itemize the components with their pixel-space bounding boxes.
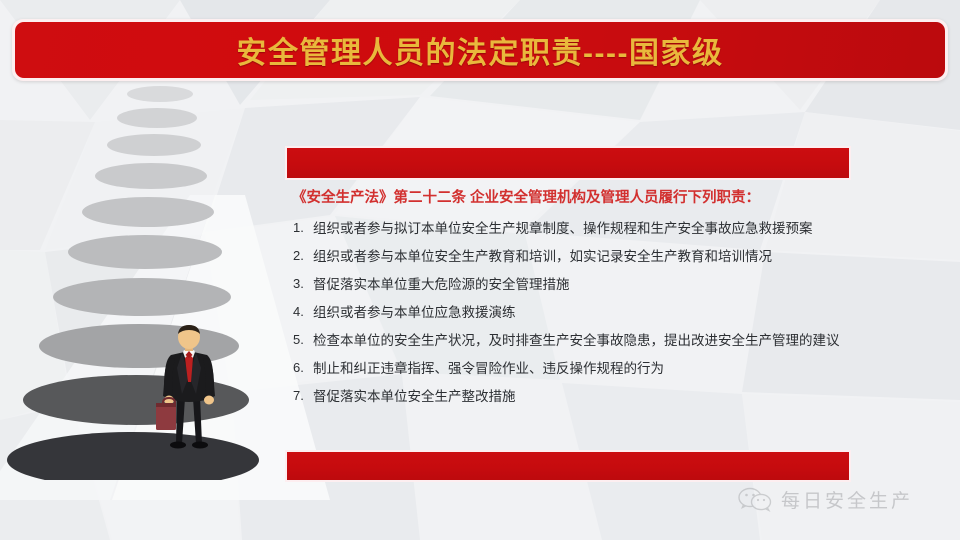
watermark-text: 每日安全生产	[781, 486, 913, 513]
title-bar-inner: 安全管理人员的法定职责----国家级	[15, 22, 945, 78]
list-item-number: 3.	[285, 275, 313, 294]
list-item-text: 组织或者参与本单位应急救援演练	[313, 303, 857, 323]
list-item-number: 5.	[285, 331, 313, 350]
content-panel: 《安全生产法》第二十二条 企业安全管理机构及管理人员履行下列职责： 1. 组织或…	[285, 188, 857, 446]
accent-bar-top-fill	[287, 148, 849, 178]
accent-bar-bottom-fill	[287, 452, 849, 480]
list-item-number: 2.	[285, 247, 313, 266]
list-item: 3. 督促落实本单位重大危险源的安全管理措施	[285, 275, 857, 295]
slide-canvas: 安全管理人员的法定职责----国家级 《安全生产法》第二十二条 企业安全管理机构…	[0, 0, 960, 540]
list-item-text: 督促落实本单位安全生产整改措施	[313, 387, 857, 407]
list-item-text: 督促落实本单位重大危险源的安全管理措施	[313, 275, 857, 295]
list-item-text: 组织或者参与拟订本单位安全生产规章制度、操作规程和生产安全事故应急救援预案	[313, 219, 857, 239]
accent-bar-bottom	[285, 450, 851, 482]
page-title: 安全管理人员的法定职责----国家级	[237, 28, 724, 72]
list-item-text: 组织或者参与本单位安全生产教育和培训，如实记录安全生产教育和培训情况	[313, 247, 857, 267]
list-item-number: 7.	[285, 387, 313, 406]
slide-title-banner: 安全管理人员的法定职责----国家级	[12, 19, 948, 81]
list-item: 6. 制止和纠正违章指挥、强令冒险作业、违反操作规程的行为	[285, 359, 857, 379]
list-item-text: 检查本单位的安全生产状况，及时排查生产安全事故隐患，提出改进安全生产管理的建议	[313, 331, 857, 351]
list-item: 1. 组织或者参与拟订本单位安全生产规章制度、操作规程和生产安全事故应急救援预案	[285, 219, 857, 239]
list-item-text: 制止和纠正违章指挥、强令冒险作业、违反操作规程的行为	[313, 359, 857, 379]
list-item-number: 1.	[285, 219, 313, 238]
list-item: 4. 组织或者参与本单位应急救援演练	[285, 303, 857, 323]
list-item: 2. 组织或者参与本单位安全生产教育和培训，如实记录安全生产教育和培训情况	[285, 247, 857, 267]
wechat-icon	[738, 487, 772, 513]
watermark: 每日安全生产	[738, 486, 913, 513]
accent-bar-top	[285, 146, 851, 180]
list-item: 7. 督促落实本单位安全生产整改措施	[285, 387, 857, 407]
list-item-number: 6.	[285, 359, 313, 378]
list-item-number: 4.	[285, 303, 313, 322]
list-item: 5. 检查本单位的安全生产状况，及时排查生产安全事故隐患，提出改进安全生产管理的…	[285, 331, 857, 351]
content-heading: 《安全生产法》第二十二条 企业安全管理机构及管理人员履行下列职责：	[292, 188, 857, 210]
duties-list: 1. 组织或者参与拟订本单位安全生产规章制度、操作规程和生产安全事故应急救援预案…	[285, 219, 857, 407]
businessman-figure-icon	[144, 324, 234, 454]
